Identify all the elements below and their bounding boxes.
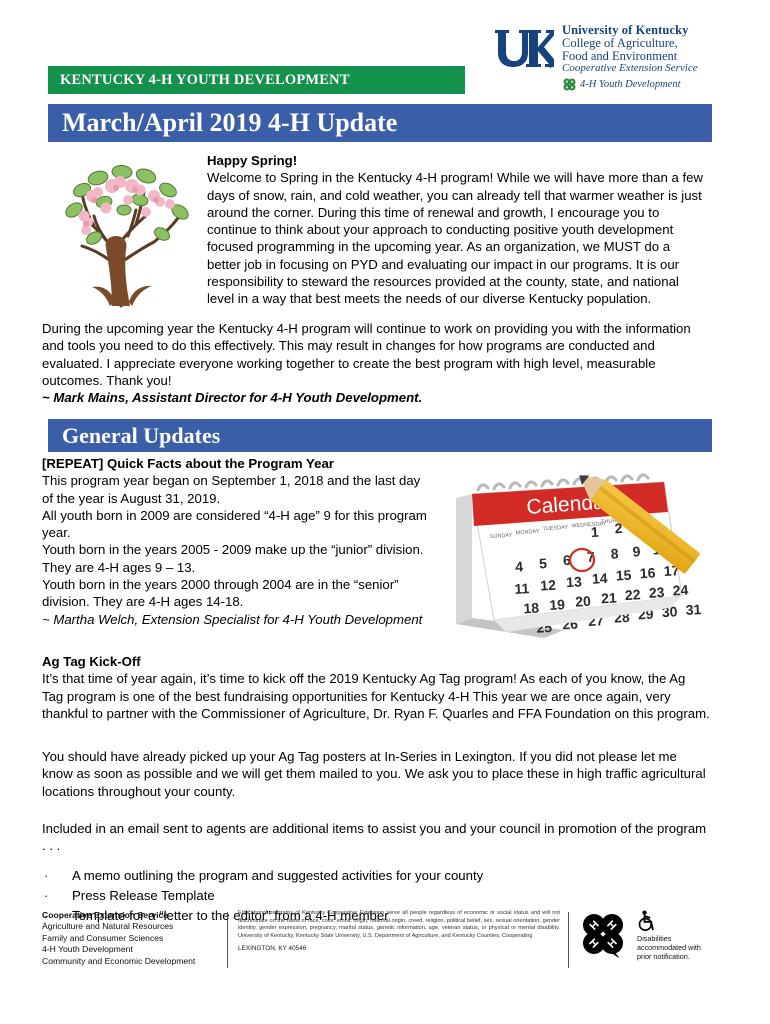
- masthead-4h-row: HH HH 4-H Youth Development: [562, 77, 762, 92]
- svg-text:18: 18: [523, 600, 540, 617]
- footer-program-1: Agriculture and Natural Resources: [42, 921, 227, 932]
- svg-text:12: 12: [540, 577, 557, 594]
- quick-facts-line-4: Youth born in the years 2000 through 200…: [42, 576, 427, 611]
- footer-program-3: 4-H Youth Development: [42, 944, 227, 955]
- desk-calendar-with-pencil-illustration: Calendar SUNDAYMONDAY TUESDAYWEDNESDAY T…: [432, 468, 714, 643]
- 4h-clover-icon: H H H H: [579, 910, 627, 958]
- 4h-clover-icon: HH HH: [562, 77, 577, 92]
- newsletter-page: University of Kentucky College of Agricu…: [0, 0, 770, 1024]
- bullet-marker: ·: [42, 886, 72, 906]
- svg-text:19: 19: [549, 596, 566, 613]
- svg-text:1: 1: [590, 524, 599, 541]
- ag-tag-paragraph-1: It’s that time of year again, it’s time …: [42, 670, 710, 722]
- list-item: · A memo outlining the program and sugge…: [42, 866, 710, 886]
- uk-wordmark-icon: [492, 26, 554, 72]
- svg-text:8: 8: [610, 545, 619, 561]
- footer-program-2: Family and Consumer Sciences: [42, 933, 227, 944]
- ag-tag-heading: Ag Tag Kick-Off: [42, 653, 710, 670]
- section-title: General Updates: [48, 423, 220, 449]
- intro-text-column: Happy Spring! Welcome to Spring in the K…: [207, 152, 707, 308]
- list-item-label: A memo outlining the program and suggest…: [72, 866, 483, 886]
- green-header-banner: KENTUCKY 4-H YOUTH DEVELOPMENT: [48, 66, 465, 94]
- footer-vertical-rule-2: [568, 912, 569, 968]
- svg-text:16: 16: [639, 564, 656, 581]
- svg-text:22: 22: [624, 586, 641, 603]
- wheelchair-accessibility-icon: [637, 910, 657, 932]
- intro-continuation-block: During the upcoming year the Kentucky 4-…: [42, 320, 710, 406]
- footer-icons: H H H H Disabilities accommodated with p…: [579, 910, 710, 962]
- nondiscrimination-statement: Educational programs of Kentucky Coopera…: [238, 910, 560, 940]
- accessibility-note: Disabilities accommodated with prior not…: [637, 934, 710, 962]
- footer-location: LEXINGTON, KY 40546: [238, 945, 560, 953]
- ag-tag-posters-paragraph: You should have already picked up your A…: [42, 748, 710, 800]
- main-title-banner: March/April 2019 4-H Update: [48, 104, 712, 142]
- quick-facts-column: [REPEAT] Quick Facts about the Program Y…: [42, 455, 427, 628]
- footer: Cooperative Extension Service Agricultur…: [42, 910, 710, 980]
- list-item: · Press Release Template: [42, 886, 710, 906]
- footer-vertical-rule-1: [227, 912, 228, 968]
- quick-facts-line-3: Youth born in the years 2005 - 2009 make…: [42, 541, 427, 576]
- quick-facts-line-1: This program year began on September 1, …: [42, 472, 427, 507]
- footer-divider: [42, 905, 710, 906]
- intro-body-2: During the upcoming year the Kentucky 4-…: [42, 320, 710, 389]
- footer-disclaimer-block: Educational programs of Kentucky Coopera…: [238, 910, 560, 953]
- college-line-2: Food and Environment: [562, 50, 762, 63]
- svg-text:9: 9: [632, 543, 641, 559]
- svg-text:5: 5: [539, 555, 548, 571]
- svg-text:15: 15: [615, 567, 632, 584]
- svg-text:20: 20: [575, 593, 592, 610]
- svg-text:23: 23: [648, 584, 665, 601]
- quick-facts-line-2: All youth born in 2009 are considered “4…: [42, 507, 427, 542]
- quick-facts-heading: [REPEAT] Quick Facts about the Program Y…: [42, 455, 427, 472]
- general-updates-banner: General Updates: [48, 419, 712, 452]
- page-title: March/April 2019 4-H Update: [48, 108, 397, 138]
- ag-tag-included-paragraph: Included in an email sent to agents are …: [42, 820, 710, 855]
- svg-text:11: 11: [514, 580, 530, 597]
- ag-tag-block: Ag Tag Kick-Off It’s that time of year a…: [42, 653, 710, 722]
- quick-facts-byline: ~ Martha Welch, Extension Specialist for…: [42, 611, 427, 628]
- svg-text:4: 4: [515, 558, 524, 574]
- university-name: University of Kentucky: [562, 24, 762, 37]
- intro-heading: Happy Spring!: [207, 152, 707, 169]
- intro-signature: ~ Mark Mains, Assistant Director for 4-H…: [42, 389, 710, 406]
- svg-text:31: 31: [685, 601, 702, 618]
- intro-body: Welcome to Spring in the Kentucky 4-H pr…: [207, 169, 707, 307]
- extension-service-line: Cooperative Extension Service: [562, 63, 762, 74]
- green-banner-title: KENTUCKY 4-H YOUTH DEVELOPMENT: [48, 72, 350, 89]
- footer-program-4: Community and Economic Development: [42, 956, 227, 967]
- accessibility-block: Disabilities accommodated with prior not…: [637, 910, 710, 962]
- footer-program-list: Cooperative Extension Service Agricultur…: [42, 910, 227, 967]
- svg-text:13: 13: [566, 573, 583, 590]
- svg-text:21: 21: [601, 590, 618, 607]
- masthead-text: University of Kentucky College of Agricu…: [562, 24, 762, 92]
- list-item-label: Press Release Template: [72, 886, 215, 906]
- masthead-4h-label: 4-H Youth Development: [580, 80, 681, 91]
- blossoming-tree-illustration: [36, 156, 206, 321]
- bullet-marker: ·: [42, 866, 72, 886]
- svg-text:24: 24: [672, 582, 689, 599]
- masthead: University of Kentucky College of Agricu…: [492, 24, 762, 100]
- svg-text:14: 14: [592, 570, 609, 587]
- college-line-1: College of Agriculture,: [562, 37, 762, 50]
- footer-program-0: Cooperative Extension Service: [42, 910, 227, 921]
